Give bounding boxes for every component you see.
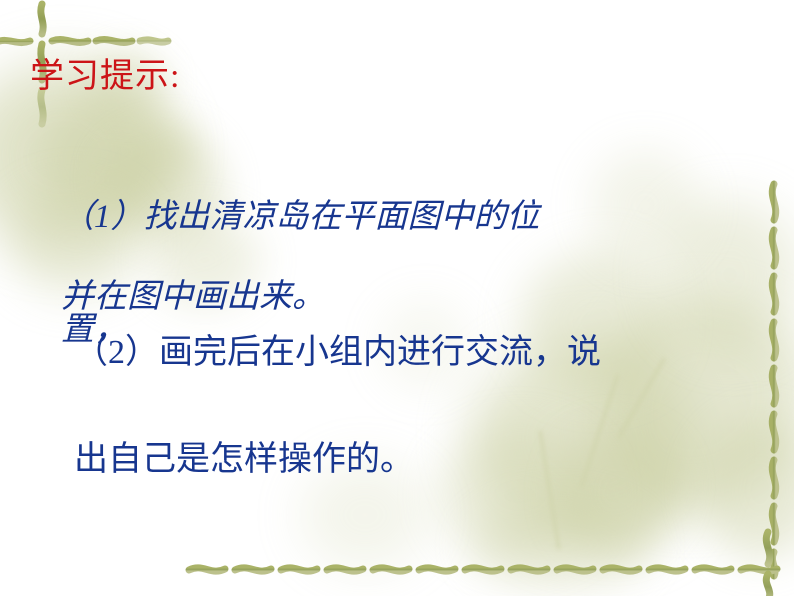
- presentation-slide: 学习提示: （1）找出清凉岛在平面图中的位 置， 并在图中画出来。 （2）画完后…: [0, 0, 794, 596]
- instruction-item-1-line-1: （1）找出清凉岛在平面图中的位: [61, 199, 540, 235]
- bamboo-horizontal-ornament: [185, 548, 794, 596]
- instruction-item-2-line-2: 出自己是怎样操作的。: [74, 441, 414, 478]
- page-title: 学习提示:: [30, 58, 180, 95]
- instruction-item-2: （2）画完后在小组内进行交流，说 出自己是怎样操作的。: [40, 272, 780, 541]
- instruction-item-2-line-1: （2）画完后在小组内进行交流，说: [74, 334, 601, 371]
